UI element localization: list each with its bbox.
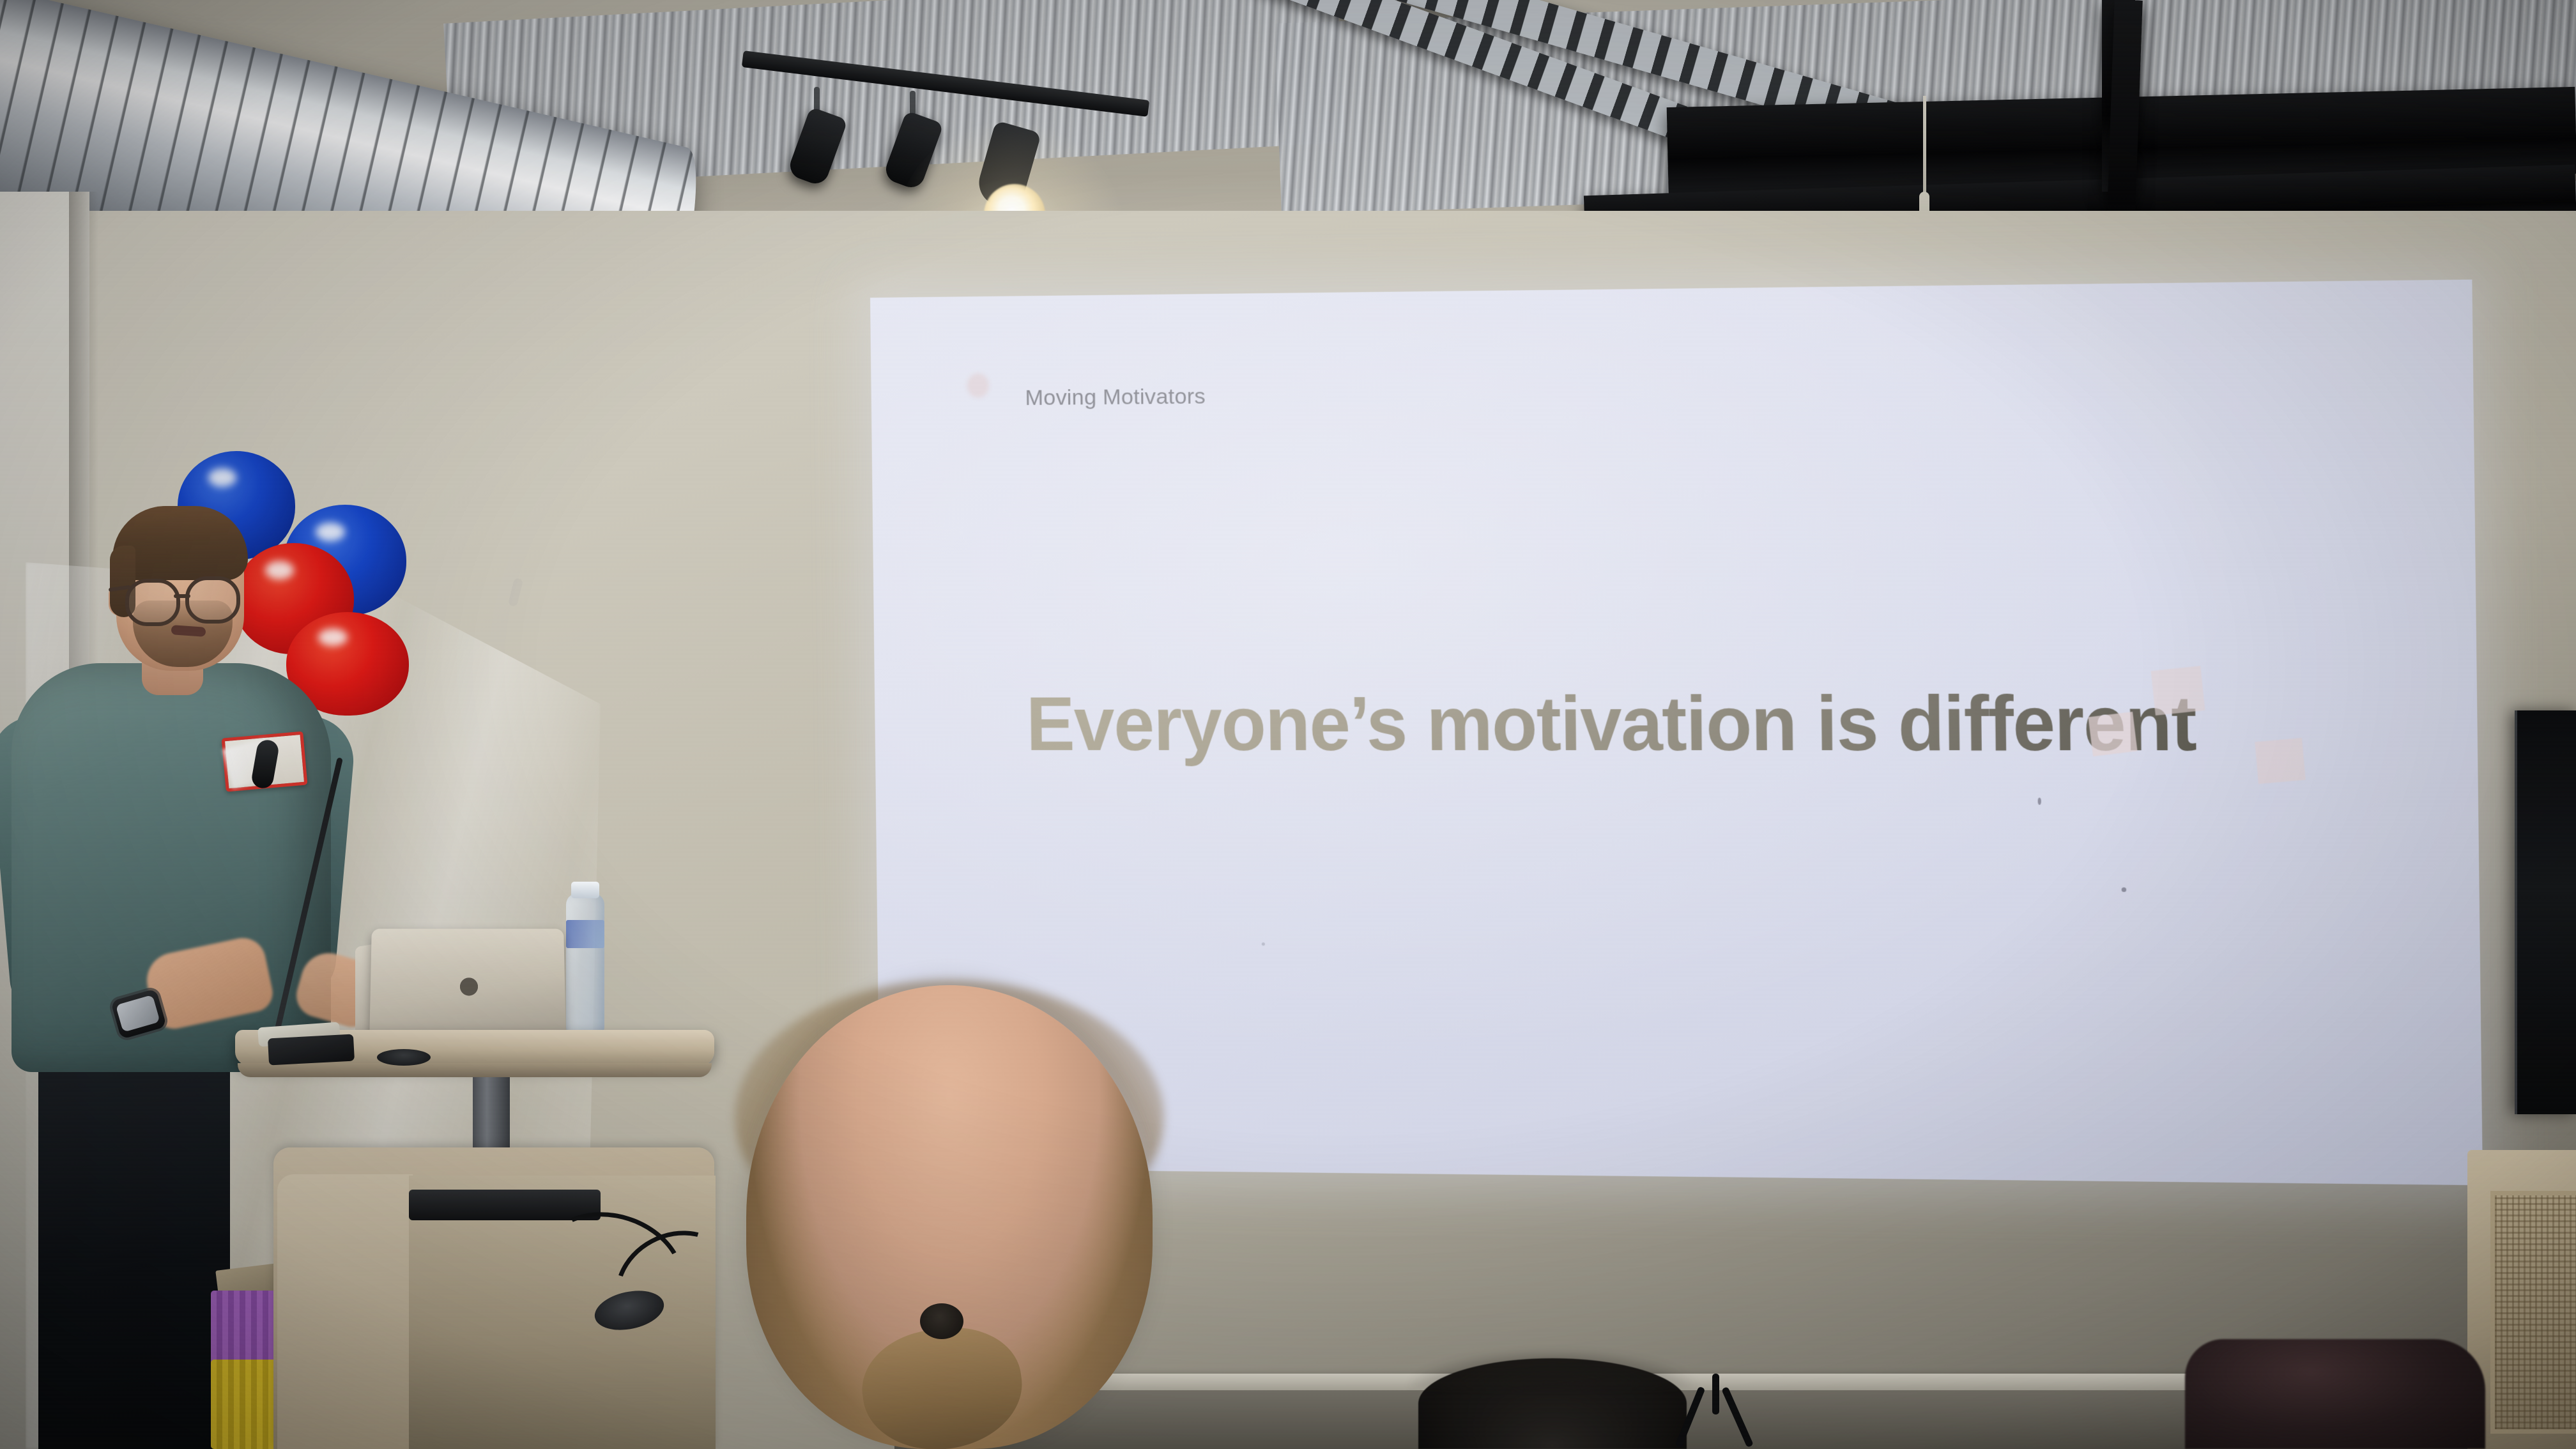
screen-speck-a xyxy=(2122,887,2127,892)
ceiling-mic-wire xyxy=(1923,96,1926,203)
wooden-podium-side-panel xyxy=(277,1174,413,1449)
decor-square-3 xyxy=(2255,738,2305,784)
screen-speck-c xyxy=(1262,942,1265,946)
apple-logo-icon xyxy=(457,971,480,998)
glasses-left-lens-icon xyxy=(125,579,180,626)
lectern-desktop-edge xyxy=(238,1063,712,1077)
tripod-leg-right xyxy=(1721,1386,1754,1448)
smartphone[interactable] xyxy=(268,1034,355,1066)
conference-talk-photo: Moving Motivators Everyone’s motivation … xyxy=(0,0,2576,1449)
water-bottle xyxy=(566,893,604,1035)
lens-flare-dot xyxy=(967,373,990,397)
presenter-trousers xyxy=(38,1054,230,1449)
gooseneck-mic-base xyxy=(377,1049,431,1066)
water-bottle-cap xyxy=(571,882,599,898)
decor-square-1 xyxy=(2088,712,2137,756)
slide-title: Everyone’s motivation is different xyxy=(1025,678,2262,769)
hair-tie-icon xyxy=(920,1303,963,1339)
wall-mounted-tv xyxy=(2515,710,2576,1114)
water-bottle-label xyxy=(566,920,604,948)
glasses-bridge-icon xyxy=(174,594,190,598)
tripod-leg-center xyxy=(1712,1374,1719,1414)
rattan-cabinet-panel xyxy=(2490,1191,2576,1434)
glasses-right-lens-icon xyxy=(185,576,240,624)
screen-speck-b xyxy=(2038,797,2041,804)
power-strip xyxy=(409,1190,601,1220)
decor-square-2 xyxy=(2151,666,2205,716)
smartwatch-face xyxy=(116,995,160,1032)
slide-kicker: Moving Motivators xyxy=(1025,384,1206,411)
mic-stand-tripod xyxy=(1687,1374,1763,1449)
folded-jacket xyxy=(2185,1339,2485,1449)
audience-member-dark-hair xyxy=(1418,1358,1687,1449)
